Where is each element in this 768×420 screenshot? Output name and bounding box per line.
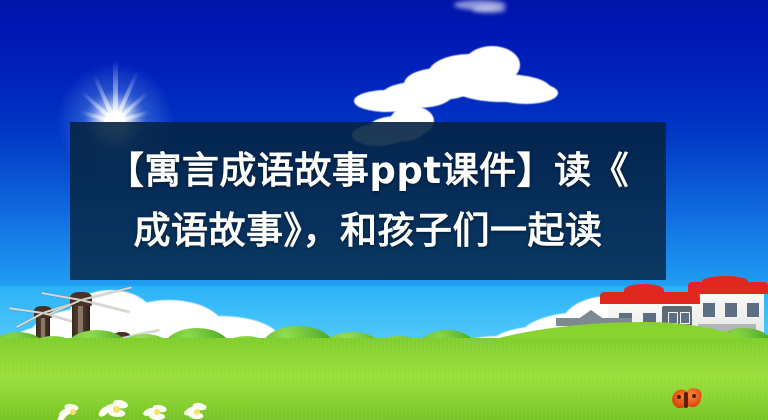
title-line-2: 成语故事》，和孩子们一起读 [134,202,603,260]
butterfly-spot [677,395,681,399]
flower-white-1 [58,400,88,420]
flower-white-2 [100,396,134,420]
title-banner: 【寓言成语故事ppt课件】读《 成语故事》，和孩子们一起读 [70,122,666,280]
butterfly-body [684,392,688,408]
flower-white-3 [142,402,174,420]
wisp-cloud-top-2 [472,6,506,13]
image-canvas: 【寓言成语故事ppt课件】读《 成语故事》，和孩子们一起读 [0,0,768,420]
title-line-1: 【寓言成语故事ppt课件】读《 [107,142,629,200]
butterfly-icon [672,386,702,412]
banner-text-block: 【寓言成语故事ppt课件】读《 成语故事》，和孩子们一起读 [70,122,666,280]
flower-white-4 [182,398,212,420]
butterfly-spot [692,394,696,398]
